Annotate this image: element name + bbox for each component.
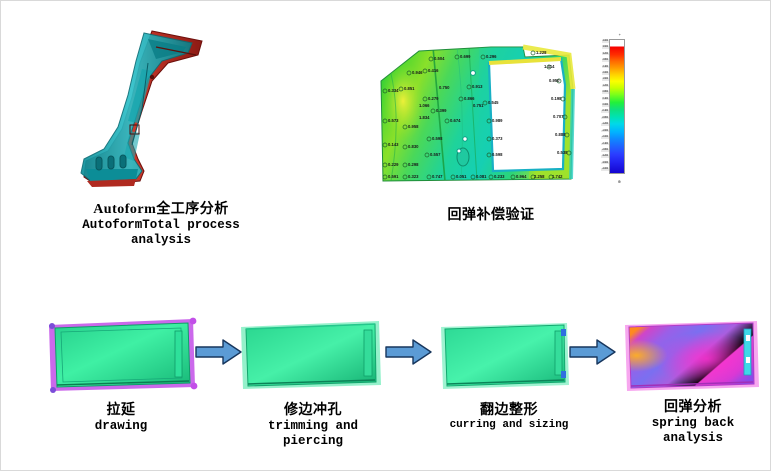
springback-wall-marker-1 <box>746 335 750 341</box>
svg-text:0.707: 0.707 <box>553 114 564 119</box>
svg-text:0.279: 0.279 <box>428 96 439 101</box>
stage-trimming-label-cn: 修边冲孔 <box>229 402 397 419</box>
colorbar-tick: 1.600 <box>602 78 610 81</box>
stage-springback-label-en-2: analysis <box>613 431 771 446</box>
colorbar-tick: 1.200 <box>602 85 610 88</box>
sizing-blank-surface <box>445 325 565 386</box>
a-pillar-part-3d-view <box>56 19 216 199</box>
svg-text:1.742: 1.742 <box>552 174 563 179</box>
colorbar-tick: 0.800 <box>602 91 610 94</box>
process-arrow-3 <box>569 339 617 365</box>
svg-text:0.545: 0.545 <box>488 100 499 105</box>
stage-drawing-label-cn: 拉延 <box>41 402 201 419</box>
svg-text:0.674: 0.674 <box>450 118 461 123</box>
svg-text:0.051: 0.051 <box>456 174 467 179</box>
stage-trimming-3d-view <box>233 313 393 397</box>
svg-text:0.591: 0.591 <box>388 174 399 179</box>
contour-hole-1 <box>471 71 476 76</box>
contour-frame-band-right <box>571 89 573 179</box>
stage-trimming-label: 修边冲孔 trimming and piercing <box>229 402 397 450</box>
colorbar-tick: 3.200 <box>602 53 610 56</box>
svg-text:0.750: 0.750 <box>439 85 450 90</box>
drawing-corner-marker-bl <box>50 387 56 393</box>
stage-trimming-label-en-1: trimming and <box>229 419 397 434</box>
trimming-blank-surface <box>246 324 376 386</box>
colorbar-tick: -0.800 <box>601 117 609 120</box>
svg-text:0.229: 0.229 <box>388 162 399 167</box>
sizing-flange-marker-top <box>561 329 566 336</box>
colorbar-tick: 2.000 <box>602 72 610 75</box>
svg-text:0.373: 0.373 <box>492 136 503 141</box>
stage-drawing-label: 拉延 drawing <box>41 402 201 434</box>
svg-text:1.228: 1.228 <box>536 50 547 55</box>
springback-wall-marker-2 <box>746 357 750 363</box>
sizing-flange-marker-bottom <box>561 371 566 378</box>
svg-text:0.334: 0.334 <box>388 88 399 93</box>
colorbar-tick: 2.400 <box>602 66 610 69</box>
autoform-label-block: Autoform全工序分析 AutoformTotal process anal… <box>46 201 276 249</box>
svg-text:0.830: 0.830 <box>408 144 419 149</box>
colorbar-tick: -1.600 <box>601 130 609 133</box>
svg-text:0.598: 0.598 <box>492 152 503 157</box>
svg-text:0.323: 0.323 <box>408 174 419 179</box>
colorbar-bottom-cap: ⊕ <box>618 179 621 184</box>
svg-text:0.958: 0.958 <box>408 124 419 129</box>
slide-canvas: Autoform全工序分析 AutoformTotal process anal… <box>0 0 771 471</box>
svg-text:0.504: 0.504 <box>434 56 445 61</box>
drawing-blank-surface <box>55 323 190 387</box>
drawing-corner-marker-tr <box>190 318 197 325</box>
colorbar-tick: -0.400 <box>601 110 609 113</box>
svg-text:0.296: 0.296 <box>486 54 497 59</box>
drawing-corner-marker-br <box>191 383 198 390</box>
colorbar-tick-list: 4.000 3.600 3.200 2.800 2.400 2.000 1.60… <box>601 40 609 171</box>
svg-text:0.964: 0.964 <box>516 174 527 179</box>
autoform-label-cn: Autoform全工序分析 <box>46 201 276 218</box>
colorbar-tick: -2.000 <box>601 136 609 139</box>
drawing-side-wall <box>175 331 182 377</box>
trimming-side-wall <box>364 330 372 376</box>
svg-text:1.834: 1.834 <box>419 115 430 120</box>
colorbar-tick: 0.000 <box>602 104 610 107</box>
svg-text:0.913: 0.913 <box>472 84 483 89</box>
stage-springback-label-en-1: spring back <box>613 416 771 431</box>
door-inner-springback-contour: 0.3340.851 0.9460.416 0.5040.699 0.2960.… <box>373 29 578 197</box>
colorbar-gradient <box>609 39 625 174</box>
svg-text:0.399: 0.399 <box>436 108 447 113</box>
svg-text:0.233: 0.233 <box>494 174 505 179</box>
svg-text:0.699: 0.699 <box>460 54 471 59</box>
stage-sizing-label: 翻边整形 curring and sizing <box>421 402 597 432</box>
svg-text:0.081: 0.081 <box>476 174 487 179</box>
svg-text:0.557: 0.557 <box>430 152 441 157</box>
svg-text:0.946: 0.946 <box>412 70 423 75</box>
svg-text:0.143: 0.143 <box>388 142 399 147</box>
part-slot-2 <box>108 156 114 169</box>
part-base-plate <box>86 169 138 181</box>
springback-compensation-label: 回弹补偿验证 <box>396 207 586 224</box>
stage-springback-label-cn: 回弹分析 <box>613 399 771 416</box>
stage-trimming-label-en-2: piercing <box>229 434 397 449</box>
colorbar-top-cap: + <box>619 32 621 37</box>
arrow-right-icon <box>570 340 615 364</box>
svg-text:0.298: 0.298 <box>408 162 419 167</box>
svg-text:0.751: 0.751 <box>473 103 484 108</box>
stage-sizing-label-cn: 翻边整形 <box>421 402 597 419</box>
svg-text:0.950: 0.950 <box>549 78 560 83</box>
svg-text:0.198: 0.198 <box>551 96 562 101</box>
svg-text:0.538: 0.538 <box>557 150 568 155</box>
stage-sizing-3d-view <box>425 313 585 397</box>
springback-compensation-label-cn: 回弹补偿验证 <box>396 207 586 224</box>
drawing-corner-marker-tl <box>49 323 55 329</box>
colorbar-tick: -2.800 <box>601 149 609 152</box>
stage-sizing-label-en: curring and sizing <box>421 419 597 432</box>
part-slot-3 <box>120 155 126 168</box>
svg-text:0.866: 0.866 <box>464 96 475 101</box>
stage-springback-label: 回弹分析 spring back analysis <box>613 399 771 447</box>
colorbar-tick: -3.200 <box>601 155 609 158</box>
svg-text:0.989: 0.989 <box>492 118 503 123</box>
colorbar-tick: -4.000 <box>601 168 609 171</box>
colorbar-tick: 4.000 <box>602 40 610 43</box>
svg-text:1.414: 1.414 <box>544 64 555 69</box>
autoform-label-en-1: AutoformTotal process <box>46 218 276 233</box>
svg-text:0.888: 0.888 <box>555 132 566 137</box>
svg-text:0.747: 0.747 <box>432 174 443 179</box>
part-hole-1 <box>150 75 154 79</box>
autoform-label-en-2: analysis <box>46 233 276 248</box>
stage-springback-3d-view <box>613 313 771 397</box>
contour-hole-3 <box>457 149 461 153</box>
colorbar-tick: -2.400 <box>601 143 609 146</box>
svg-text:0.598: 0.598 <box>432 136 443 141</box>
stage-drawing-3d-view <box>43 313 203 397</box>
colorbar-tick: 3.600 <box>602 46 610 49</box>
svg-text:0.851: 0.851 <box>404 86 415 91</box>
svg-text:0.416: 0.416 <box>428 68 439 73</box>
springback-colorbar: + 4.000 3.600 3.200 2.800 2.400 2.000 1.… <box>577 33 625 181</box>
contour-hole-2 <box>463 137 467 141</box>
svg-text:2.258: 2.258 <box>534 174 545 179</box>
part-slot-1 <box>96 157 102 170</box>
springback-hot-mid <box>629 323 754 388</box>
stage-drawing-label-en: drawing <box>41 419 201 434</box>
sizing-side-wall <box>555 331 562 375</box>
colorbar-tick: -3.600 <box>601 162 609 165</box>
svg-text:0.573: 0.573 <box>388 118 399 123</box>
svg-text:1.066: 1.066 <box>419 103 430 108</box>
colorbar-tick: 0.400 <box>602 98 610 101</box>
colorbar-tick: 2.800 <box>602 59 610 62</box>
colorbar-tick: -1.200 <box>601 123 609 126</box>
